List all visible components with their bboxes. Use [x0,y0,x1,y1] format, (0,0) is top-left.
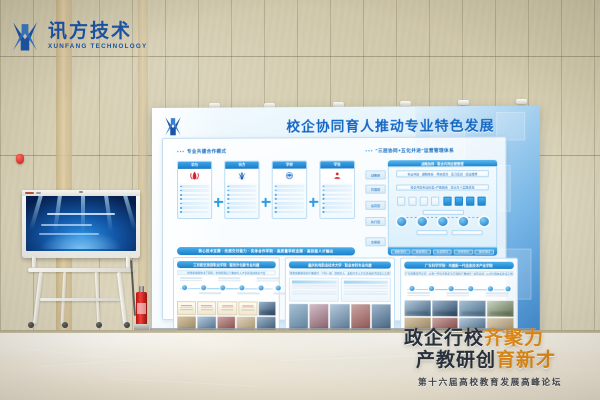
foot-pill: 资源协同 [412,249,431,254]
diagram-node [397,217,406,226]
ceiling-spotlight [400,101,411,106]
xunfang-x-mark-icon [8,19,42,53]
panel-title: 重庆机电职业技术大学 · 职业本科专业共建 [289,261,391,268]
panel-subtitle: 广东省教育厅认定 · 以新一代信息技术为引领的产教融合 "双链对接" 人才培养体… [404,271,514,276]
foot-pill: 组织协同 [391,249,410,254]
certificate-thumb [238,301,257,315]
heading-dots: ▪▪▪ [365,148,373,153]
diagram-foot-pills: 组织协同 资源协同 标准协同 评价协同 服务协同 [388,247,497,255]
photo-thumb [258,301,275,315]
status-indicator [25,192,34,194]
school-logo-icon [273,169,306,183]
slogan-line-1-gold: 齐聚力 [484,327,544,349]
plus-separator [260,161,272,244]
diagram-exec-label [452,230,483,235]
plus-separator [307,160,319,243]
whiteboard-screen[interactable] [26,194,136,251]
photo-thumb [404,300,431,316]
exhibition-hall-scene: 讯方技术 XUNFANG TECHNOLOGY [0,0,600,400]
brand-name-en: XUNFANG TECHNOLOGY [48,44,147,50]
diagram-body [388,166,497,248]
operations-management-diagram: 战略协同 · 联合共同运营管理 战略层 管理层 运营层 执行层 支撑层 专业共建… [365,160,497,256]
foot-pill: 标准协同 [433,249,452,254]
panel-title: 广东科学学院 · 共建新一代信息技术产业学院 [404,262,514,269]
panel-timeline [177,277,276,299]
diagram-node [459,217,468,226]
interactive-whiteboard-on-stand[interactable] [22,190,140,330]
certificate-thumb [197,301,216,315]
partner-column: 学校 [272,161,308,219]
capability-summary-ribbon: 核心技术支撑 · 优质交付能力 · 实体合作学院 · 高质量学校支撑 · 高技能… [177,247,355,255]
slogan-line-2-dark: 产教研创 [416,349,496,371]
panel-title: 三亚航空旅游职业学院 · 服务外包新专业共建 [177,261,276,268]
partner-column: 学生 [319,160,355,219]
diagram-mid-label [423,210,464,215]
fire-alarm-bell-icon [16,154,24,164]
diagram-exec-label [417,230,448,235]
brand-wordmark: 讯方技术 XUNFANG TECHNOLOGY [48,22,147,50]
diagram-node [418,217,427,226]
certificate-thumb [177,301,196,315]
diagram-strategy-bar: 专业共建 · 课程体系 · 师资培养 · 实习实训 · 就业推荐 [396,170,489,177]
panel-subtitle: 面向智能制造的产教融合 · 三位一体 · 协同育人 · 本科层次人才培养新模式探… [289,270,391,275]
plus-separator [212,161,224,243]
partner-capability-list [178,183,211,218]
info-block [289,277,339,301]
diagram-node [438,217,447,226]
partner-column: 华为 [177,161,212,219]
brand-name-cn: 讯方技术 [48,22,147,41]
ceiling-spotlight [458,100,469,105]
left-module-heading-text: 专业共建合作模式 [187,149,226,154]
partner-columns: 华为 讯方 [177,160,355,243]
diagram-row-label: 战略层 [365,170,385,179]
panel-certificates [177,301,276,316]
diagram-row-label: 运营层 [365,201,385,210]
ceiling-spotlight [516,99,527,104]
banner-content-board: ▪▪▪专业共建合作模式 华为 [162,136,507,322]
diagram-row-label: 支撑层 [365,237,385,246]
panel-timeline [404,278,514,299]
foot-pill: 服务协同 [475,249,494,254]
photo-thumb [459,300,486,316]
case-study-panel: 广东科学学院 · 共建新一代信息技术产业学院 广东省教育厅认定 · 以新一代信息… [400,258,518,333]
slogan-line-2: 产教研创育新才 [416,350,556,371]
diagram-row-label: 执行层 [365,217,385,226]
slogan-line-1-dark: 政企行校 [404,327,484,349]
status-indicator [36,192,41,194]
case-study-panel: 重庆机电职业技术大学 · 职业本科专业共建 面向智能制造的产教融合 · 三位一体… [285,257,395,332]
diagram-node [480,217,489,226]
slogan-line-2-gold: 育新才 [496,349,556,371]
case-study-panels: 三亚航空旅游职业学院 · 服务外包新专业共建 智慧航旅新技术工程院 · 智慧机场… [173,257,518,332]
diagram-row-label: 管理层 [365,185,385,194]
exhibition-banner-backdrop: 校企协同育人推动专业特色发展 ▪▪▪专业共建合作模式 华为 [152,106,540,333]
partner-capability-list [320,183,354,218]
panel-photo-collage [404,300,514,317]
panel-subtitle: 智慧航旅新技术工程院 · 智慧机场与产教融合人才培养基地建设方案 [177,270,276,275]
forum-slogan-overlay: 政企行校齐聚力 产教研创育新才 第十六届高校教育发展高峰论坛 [398,326,600,400]
forum-subtitle: 第十六届高校教育发展高峰论坛 [418,376,562,388]
right-module-heading: ▪▪▪"三层协同+五化并进"运营管理体系 [365,148,454,154]
fire-extinguisher-icon [136,283,147,330]
diagram-management-bar: 校企共建专业标准+产教融合 · 双元育人实践基地 [396,184,489,190]
case-study-panel: 三亚航空旅游职业学院 · 服务外包新专业共建 智慧航旅新技术工程院 · 智慧机场… [173,257,280,332]
slogan-line-1: 政企行校齐聚力 [404,328,544,349]
banner-main-title: 校企协同育人推动专业特色发展 [263,114,519,136]
left-module-heading: ▪▪▪专业共建合作模式 [177,149,226,155]
partner-column-title: 学生 [320,161,354,168]
xunfang-logo-icon [225,169,258,183]
wall-brand-logo: 讯方技术 XUNFANG TECHNOLOGY [8,14,153,58]
whiteboard-camera [79,191,83,193]
huawei-logo-icon [178,169,211,183]
whiteboard-stand-legs [22,256,140,330]
info-block [341,278,391,302]
student-logo-icon [320,168,354,182]
partner-column: 讯方 [224,161,259,219]
photo-thumb [432,300,459,316]
partner-capability-list [225,183,258,218]
right-module-heading-text: "三层协同+五化并进"运营管理体系 [375,148,454,153]
photo-thumb [487,300,514,316]
panel-info-blocks [289,277,391,302]
whiteboard-frame [22,190,140,258]
partner-capability-list [273,183,306,218]
certificate-thumb [218,301,237,315]
foot-pill: 评价协同 [454,249,473,254]
banner-xunfang-logo-icon [160,115,186,137]
heading-dots: ▪▪▪ [177,149,185,154]
